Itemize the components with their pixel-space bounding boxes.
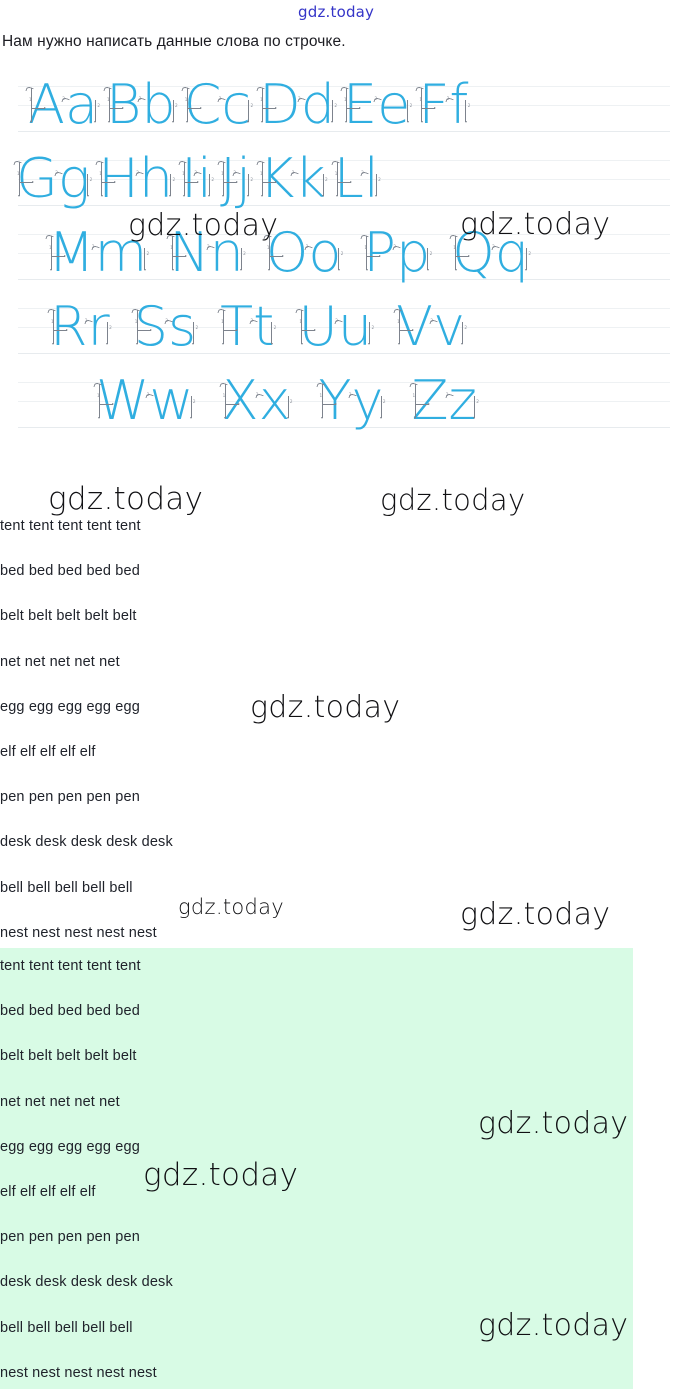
lowercase-letter-v: v: [433, 295, 465, 358]
lowercase-glyph-wrap: a2: [65, 78, 98, 132]
stroke-direction-arrow-icon: [241, 248, 242, 270]
stroke-direction-arrow-icon: [427, 248, 428, 270]
stroke-order-number: 2: [528, 252, 531, 256]
practice-word-line: pen pen pen pen pen: [0, 789, 140, 805]
lowercase-glyph-wrap: e2: [377, 78, 410, 132]
uppercase-glyph-wrap: R12: [50, 300, 88, 354]
lowercase-glyph-wrap: g2: [58, 152, 90, 206]
stroke-order-number: 2: [334, 104, 337, 108]
stroke-order-number: 2: [211, 178, 214, 182]
uppercase-glyph-wrap: P12: [363, 226, 396, 280]
stroke-direction-arrow-icon: [144, 248, 145, 270]
stroke-direction-arrow-icon: [376, 174, 377, 196]
stroke-direction-arrow-icon: [271, 322, 272, 344]
stroke-order-number: 1: [29, 98, 32, 102]
stroke-order-number: 1: [260, 98, 263, 102]
uppercase-glyph-wrap: G12: [16, 152, 58, 206]
stroke-order-number: 2: [290, 400, 293, 404]
stroke-direction-arrow-icon: [110, 108, 123, 109]
site-watermark: gdz.today: [48, 481, 203, 517]
stroke-order-number: 1: [51, 320, 54, 324]
answer-word-line: tent tent tent tent tent: [0, 958, 141, 974]
letter-pair-e: E12e2: [343, 78, 410, 132]
answer-word-line: pen pen pen pen pen: [0, 1229, 140, 1245]
lowercase-letter-y: y: [352, 369, 384, 432]
stroke-order-number: 2: [371, 326, 374, 330]
stroke-direction-arrow-icon: [407, 100, 408, 122]
uppercase-letter-T: T: [220, 295, 253, 358]
letter-pair-u: U12u2: [298, 300, 372, 354]
stroke-order-number: 2: [147, 252, 150, 256]
site-watermark: gdz.today: [128, 208, 278, 243]
uppercase-glyph-wrap: S12: [134, 300, 168, 354]
stroke-order-number: 1: [344, 98, 347, 102]
uppercase-letter-P: P: [363, 221, 396, 284]
uppercase-letter-S: S: [134, 295, 168, 358]
uppercase-letter-R: R: [50, 295, 88, 358]
letter-pair-p: P12p2: [363, 226, 430, 280]
stroke-curve-arrow-icon: [331, 160, 339, 167]
uppercase-glyph-wrap: D12: [259, 78, 301, 132]
uppercase-letter-Z: Z: [412, 369, 449, 432]
worksheet-page: gdz.today Нам нужно написать данные слов…: [0, 0, 680, 1389]
stroke-direction-arrow-icon: [302, 330, 315, 331]
stroke-direction-arrow-icon: [87, 174, 88, 196]
stroke-order-number: 2: [175, 104, 178, 108]
stroke-direction-arrow-icon: [415, 384, 416, 418]
uppercase-glyph-wrap: T12: [220, 300, 253, 354]
stroke-direction-arrow-icon: [465, 100, 466, 122]
lowercase-letter-a: a: [65, 73, 98, 136]
practice-word-line: egg egg egg egg egg: [0, 699, 140, 715]
stroke-direction-arrow-icon: [20, 182, 33, 183]
lowercase-glyph-wrap: r2: [88, 300, 110, 354]
letter-pair-k: K12k2: [259, 152, 326, 206]
stroke-order-number: 2: [410, 104, 413, 108]
stroke-direction-arrow-icon: [193, 322, 194, 344]
practice-word-line: desk desk desk desk desk: [0, 834, 173, 850]
stroke-direction-arrow-icon: [338, 182, 351, 183]
uppercase-letter-W: W: [96, 369, 149, 432]
uppercase-glyph-wrap: I12: [181, 152, 197, 206]
stroke-order-number: 1: [397, 320, 400, 324]
stroke-direction-arrow-icon: [170, 174, 171, 196]
stroke-order-number: 2: [243, 252, 246, 256]
answer-word-line: elf elf elf elf elf: [0, 1184, 96, 1200]
uppercase-letter-C: C: [184, 73, 222, 136]
stroke-order-number: 2: [250, 178, 253, 182]
stroke-curve-arrow-icon: [219, 382, 227, 389]
stroke-direction-arrow-icon: [225, 384, 226, 418]
stroke-order-number: 2: [476, 400, 479, 404]
stroke-order-number: 1: [419, 98, 422, 102]
stroke-direction-arrow-icon: [102, 182, 115, 183]
stroke-order-number: 2: [468, 104, 471, 108]
stroke-direction-arrow-icon: [226, 404, 239, 405]
stroke-direction-arrow-icon: [248, 174, 249, 196]
uppercase-letter-G: G: [16, 147, 58, 210]
alphabet-row: A12a2B12b2C12c2D12d2E12e2F12f2: [0, 78, 680, 152]
site-watermark: gdz.today: [460, 207, 610, 242]
lowercase-letter-w: w: [149, 369, 193, 432]
lowercase-glyph-wrap: j2: [236, 152, 251, 206]
stroke-curve-arrow-icon: [131, 308, 139, 315]
lowercase-glyph-wrap: l2: [364, 152, 379, 206]
uppercase-letter-F: F: [418, 73, 449, 136]
stroke-order-number: 2: [325, 178, 328, 182]
lowercase-letter-s: s: [168, 295, 196, 358]
stroke-curve-arrow-icon: [316, 382, 324, 389]
stroke-direction-arrow-icon: [209, 174, 210, 196]
stroke-order-number: 1: [364, 246, 367, 250]
stroke-order-number: 1: [299, 320, 302, 324]
stroke-direction-arrow-icon: [400, 330, 413, 331]
letter-pair-l: L12l2: [334, 152, 379, 206]
practice-word-line: belt belt belt belt belt: [0, 608, 137, 624]
stroke-direction-arrow-icon: [347, 108, 360, 109]
letter-pair-f: F12f2: [418, 78, 468, 132]
stroke-direction-arrow-icon: [263, 182, 276, 183]
lowercase-glyph-wrap: y2: [352, 374, 384, 428]
stroke-direction-arrow-icon: [138, 330, 151, 331]
stroke-order-number: 2: [341, 252, 344, 256]
lowercase-letter-d: d: [301, 73, 335, 136]
stroke-curve-arrow-icon: [13, 160, 21, 167]
stroke-order-number: 1: [413, 394, 416, 398]
uppercase-glyph-wrap: E12: [343, 78, 377, 132]
stroke-order-number: 1: [170, 246, 173, 250]
lowercase-letter-e: e: [377, 73, 410, 136]
stroke-direction-arrow-icon: [332, 100, 333, 122]
stroke-order-number: 1: [97, 394, 100, 398]
practice-word-line: net net net net net: [0, 654, 120, 670]
lowercase-glyph-wrap: h2: [139, 152, 173, 206]
stroke-order-number: 2: [378, 178, 381, 182]
uppercase-glyph-wrap: U12: [298, 300, 338, 354]
uppercase-letter-B: B: [106, 73, 141, 136]
stroke-order-number: 2: [172, 178, 175, 182]
uppercase-letter-H: H: [98, 147, 139, 210]
stroke-direction-arrow-icon: [173, 100, 174, 122]
stroke-direction-arrow-icon: [224, 330, 237, 331]
letter-pair-g: G12g2: [16, 152, 90, 206]
uppercase-letter-Y: Y: [319, 369, 352, 432]
uppercase-letter-L: L: [334, 147, 364, 210]
site-watermark: gdz.today: [478, 1308, 628, 1343]
lowercase-glyph-wrap: w2: [149, 374, 193, 428]
uppercase-glyph-wrap: Y12: [319, 374, 352, 428]
lowercase-letter-o: o: [308, 221, 341, 284]
lowercase-glyph-wrap: u2: [338, 300, 372, 354]
stroke-direction-arrow-icon: [100, 404, 113, 405]
uppercase-glyph-wrap: V12: [396, 300, 433, 354]
stroke-order-number: 2: [109, 326, 112, 330]
practice-word-line: bell bell bell bell bell: [0, 880, 133, 896]
stroke-order-number: 2: [430, 252, 433, 256]
stroke-curve-arrow-icon: [409, 382, 417, 389]
lowercase-glyph-wrap: o2: [308, 226, 341, 280]
practice-word-line: elf elf elf elf elf: [0, 744, 96, 760]
stroke-order-number: 1: [182, 172, 185, 176]
stroke-direction-arrow-icon: [338, 248, 339, 270]
stroke-direction-arrow-icon: [322, 384, 323, 418]
letter-pair-h: H12h2: [98, 152, 173, 206]
stroke-order-number: 2: [250, 104, 253, 108]
site-watermark: gdz.today: [143, 1157, 298, 1193]
stroke-order-number: 1: [185, 98, 188, 102]
lowercase-glyph-wrap: v2: [433, 300, 465, 354]
uppercase-letter-V: V: [396, 295, 433, 358]
letter-pair-y: Y12y2: [319, 374, 384, 428]
answer-word-line: bed bed bed bed bed: [0, 1003, 140, 1019]
stroke-direction-arrow-icon: [32, 108, 45, 109]
lowercase-glyph-wrap: x2: [259, 374, 291, 428]
practice-word-line: nest nest nest nest nest: [0, 925, 157, 941]
stroke-direction-arrow-icon: [323, 174, 324, 196]
uppercase-glyph-wrap: M12: [48, 226, 95, 280]
letter-pair-z: Z12z2: [412, 374, 477, 428]
uppercase-letter-K: K: [259, 147, 294, 210]
letter-pair-t: T12t2: [220, 300, 274, 354]
lowercase-letter-p: p: [396, 221, 430, 284]
stroke-order-number: 1: [267, 246, 270, 250]
stroke-order-number: 1: [49, 246, 52, 250]
stroke-curve-arrow-icon: [25, 86, 33, 93]
stroke-direction-arrow-icon: [288, 396, 289, 418]
stroke-direction-arrow-icon: [456, 256, 469, 257]
stroke-direction-arrow-icon: [263, 108, 276, 109]
letter-pair-i: I12i2: [181, 152, 212, 206]
lowercase-glyph-wrap: t2: [253, 300, 274, 354]
stroke-curve-arrow-icon: [45, 234, 53, 241]
lowercase-letter-h: h: [139, 147, 173, 210]
site-watermark: gdz.today: [250, 690, 400, 725]
site-watermark: gdz.today: [178, 895, 284, 919]
stroke-direction-arrow-icon: [422, 108, 435, 109]
stroke-order-number: 1: [453, 246, 456, 250]
answer-word-line: nest nest nest nest nest: [0, 1365, 157, 1381]
answer-word-line: belt belt belt belt belt: [0, 1048, 137, 1064]
stroke-order-number: 1: [223, 394, 226, 398]
stroke-order-number: 2: [195, 326, 198, 330]
lowercase-glyph-wrap: k2: [294, 152, 325, 206]
stroke-curve-arrow-icon: [340, 86, 348, 93]
letter-pair-w: W12w2: [96, 374, 194, 428]
lowercase-glyph-wrap: z2: [449, 374, 477, 428]
uppercase-letter-A: A: [28, 73, 65, 136]
stroke-direction-arrow-icon: [107, 322, 108, 344]
uppercase-letter-M: M: [48, 221, 95, 284]
lowercase-glyph-wrap: f2: [449, 78, 468, 132]
uppercase-glyph-wrap: K12: [259, 152, 294, 206]
stroke-direction-arrow-icon: [191, 396, 192, 418]
uppercase-glyph-wrap: F12: [418, 78, 449, 132]
stroke-direction-arrow-icon: [416, 404, 429, 405]
uppercase-glyph-wrap: C12: [184, 78, 222, 132]
task-instruction: Нам нужно написать данные слова по строч…: [2, 33, 346, 51]
alphabet-row: W12w2X12x2Y12y2Z12z2: [0, 374, 680, 448]
stroke-order-number: 1: [99, 172, 102, 176]
stroke-direction-arrow-icon: [369, 322, 370, 344]
lowercase-glyph-wrap: b2: [141, 78, 175, 132]
stroke-order-number: 1: [107, 98, 110, 102]
answer-word-line: egg egg egg egg egg: [0, 1139, 140, 1155]
letter-pair-r: R12r2: [50, 300, 110, 354]
site-watermark: gdz.today: [460, 897, 610, 932]
stroke-direction-arrow-icon: [367, 256, 380, 257]
stroke-order-number: 2: [90, 178, 93, 182]
stroke-order-number: 1: [260, 172, 263, 176]
stroke-direction-arrow-icon: [173, 256, 186, 257]
stroke-order-number: 2: [274, 326, 277, 330]
stroke-order-number: 2: [193, 400, 196, 404]
alphabet-tracing-chart: A12a2B12b2C12c2D12d2E12e2F12f2G12g2H12h2…: [0, 78, 680, 450]
uppercase-glyph-wrap: J12: [220, 152, 236, 206]
letter-pair-x: X12x2: [222, 374, 291, 428]
stroke-direction-arrow-icon: [462, 322, 463, 344]
letter-pair-c: C12c2: [184, 78, 251, 132]
stroke-direction-arrow-icon: [95, 100, 96, 122]
stroke-order-number: 2: [383, 400, 386, 404]
answer-word-line: desk desk desk desk desk: [0, 1274, 173, 1290]
lowercase-letter-k: k: [294, 147, 325, 210]
letter-pair-a: A12a2: [28, 78, 98, 132]
lowercase-letter-x: x: [259, 369, 291, 432]
lowercase-glyph-wrap: s2: [168, 300, 196, 354]
uppercase-glyph-wrap: W12: [96, 374, 149, 428]
uppercase-letter-E: E: [343, 73, 377, 136]
answer-word-line: net net net net net: [0, 1094, 120, 1110]
site-watermark: gdz.today: [380, 483, 525, 517]
lowercase-letter-g: g: [58, 147, 90, 210]
stroke-direction-arrow-icon: [381, 396, 382, 418]
stroke-direction-arrow-icon: [270, 256, 283, 257]
practice-word-line: bed bed bed bed bed: [0, 563, 140, 579]
lowercase-letter-c: c: [221, 73, 251, 136]
site-watermark-top: gdz.today: [298, 3, 374, 21]
lowercase-glyph-wrap: p2: [396, 226, 430, 280]
lowercase-letter-z: z: [449, 369, 477, 432]
lowercase-glyph-wrap: i2: [197, 152, 212, 206]
stroke-curve-arrow-icon: [181, 86, 189, 93]
stroke-order-number: 1: [135, 320, 138, 324]
lowercase-letter-u: u: [338, 295, 372, 358]
lowercase-glyph-wrap: c2: [221, 78, 251, 132]
letter-pair-v: V12v2: [396, 300, 465, 354]
uppercase-letter-U: U: [298, 295, 338, 358]
letter-pair-s: S12s2: [134, 300, 196, 354]
letter-pair-j: J12j2: [220, 152, 251, 206]
uppercase-glyph-wrap: H12: [98, 152, 139, 206]
stroke-order-number: 1: [17, 172, 20, 176]
stroke-order-number: 2: [97, 104, 100, 108]
site-watermark: gdz.today: [478, 1106, 628, 1141]
stroke-direction-arrow-icon: [52, 256, 65, 257]
lowercase-letter-b: b: [141, 73, 175, 136]
stroke-curve-arrow-icon: [93, 382, 101, 389]
alphabet-row: R12r2S12s2T12t2U12u2V12v2: [0, 300, 680, 374]
uppercase-glyph-wrap: L12: [334, 152, 364, 206]
stroke-direction-arrow-icon: [474, 396, 475, 418]
stroke-direction-arrow-icon: [188, 108, 201, 109]
stroke-order-number: 1: [320, 394, 323, 398]
uppercase-glyph-wrap: X12: [222, 374, 259, 428]
stroke-direction-arrow-icon: [323, 404, 336, 405]
stroke-order-number: 1: [221, 172, 224, 176]
stroke-curve-arrow-icon: [256, 160, 264, 167]
stroke-curve-arrow-icon: [47, 308, 55, 315]
uppercase-glyph-wrap: A12: [28, 78, 65, 132]
answer-word-line: bell bell bell bell bell: [0, 1320, 133, 1336]
practice-word-line: tent tent tent tent tent: [0, 518, 141, 534]
stroke-order-number: 2: [464, 326, 467, 330]
letter-pair-b: B12b2: [106, 78, 176, 132]
uppercase-letter-X: X: [222, 369, 259, 432]
lowercase-glyph-wrap: d2: [301, 78, 335, 132]
stroke-order-number: 1: [221, 320, 224, 324]
uppercase-letter-D: D: [259, 73, 301, 136]
stroke-order-number: 1: [335, 172, 338, 176]
stroke-direction-arrow-icon: [248, 100, 249, 122]
letter-pair-d: D12d2: [259, 78, 335, 132]
uppercase-glyph-wrap: B12: [106, 78, 141, 132]
uppercase-glyph-wrap: Z12: [412, 374, 449, 428]
stroke-direction-arrow-icon: [526, 248, 527, 270]
stroke-direction-arrow-icon: [54, 330, 67, 331]
